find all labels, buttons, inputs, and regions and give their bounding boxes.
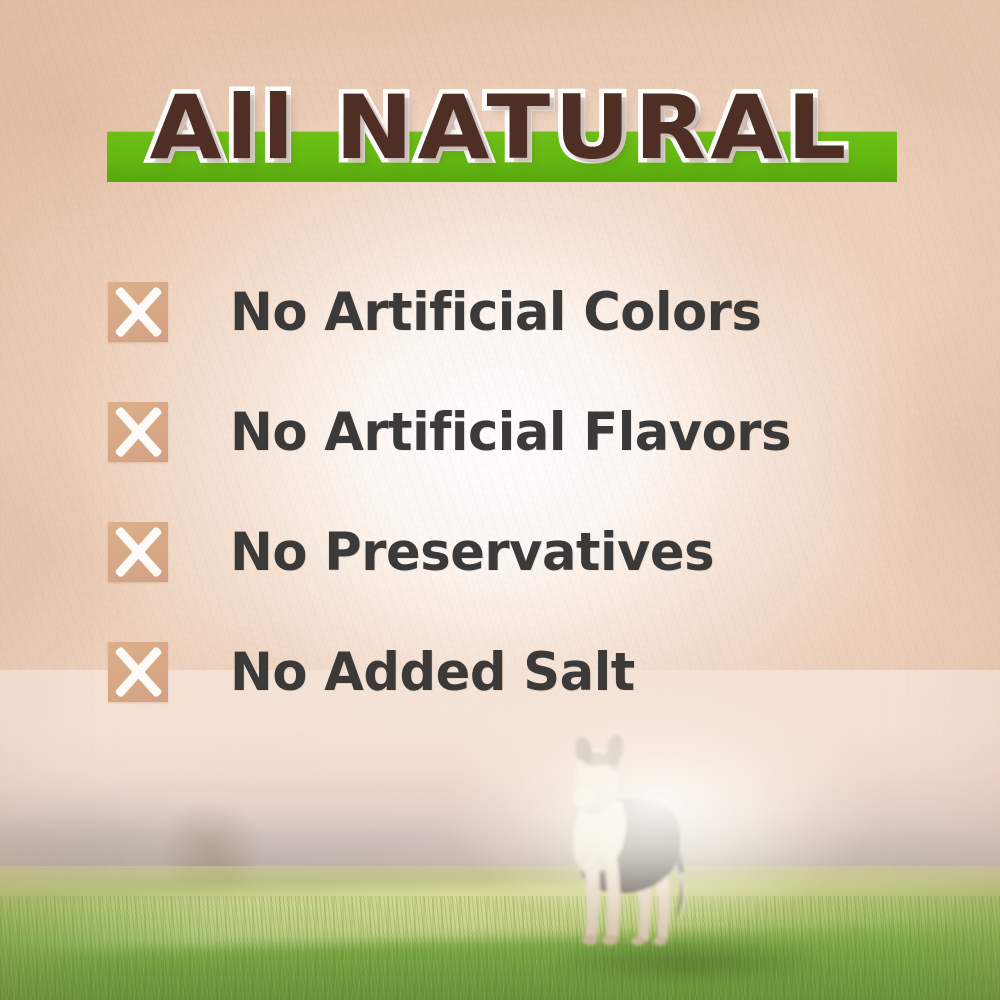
list-item: No Artificial Colors bbox=[108, 252, 928, 372]
feature-label: No Artificial Flavors bbox=[230, 402, 791, 463]
x-mark-icon bbox=[108, 402, 168, 462]
x-mark-icon bbox=[108, 642, 168, 702]
x-mark-icon bbox=[108, 522, 168, 582]
border-collie-dog bbox=[528, 733, 708, 948]
headline-block: All NATURAL bbox=[0, 68, 1000, 193]
all-natural-feature-panel: All NATURAL No Artificial Colors No Arti… bbox=[0, 0, 1000, 1000]
list-item: No Preservatives bbox=[108, 492, 928, 612]
list-item: No Added Salt bbox=[108, 612, 928, 732]
feature-label: No Added Salt bbox=[230, 642, 635, 703]
feature-label: No Artificial Colors bbox=[230, 282, 761, 343]
page-title: All NATURAL bbox=[0, 68, 1000, 188]
list-item: No Artificial Flavors bbox=[108, 372, 928, 492]
feature-list: No Artificial Colors No Artificial Flavo… bbox=[108, 252, 928, 732]
x-mark-icon bbox=[108, 282, 168, 342]
feature-label: No Preservatives bbox=[230, 522, 714, 583]
